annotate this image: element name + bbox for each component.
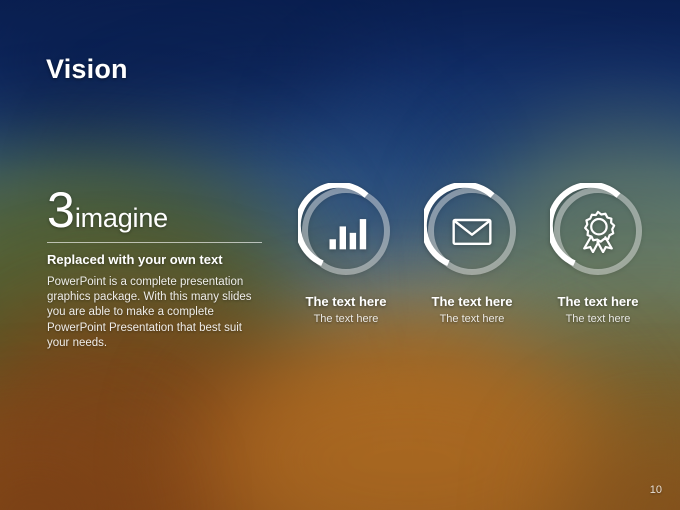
icon-column-2[interactable]: The text here The text here (409, 183, 535, 325)
column-title: The text here (432, 294, 513, 309)
presentation-slide: Vision 3imagine Replaced with your own t… (0, 0, 680, 510)
progress-ring-2 (424, 183, 520, 279)
column-title: The text here (558, 294, 639, 309)
column-subtitle: The text here (566, 313, 631, 325)
page-title: Vision (46, 54, 128, 85)
headline-word: imagine (75, 203, 168, 233)
column-title: The text here (306, 294, 387, 309)
divider-rule (47, 242, 262, 243)
column-subtitle: The text here (440, 313, 505, 325)
envelope-icon (424, 183, 520, 279)
award-ribbon-icon (550, 183, 646, 279)
left-text-block: 3imagine Replaced with your own text Pow… (47, 185, 265, 351)
progress-ring-3 (550, 183, 646, 279)
bar-chart-icon (298, 183, 394, 279)
body-paragraph: PowerPoint is a complete presentation gr… (47, 275, 261, 351)
icon-columns: The text here The text here The text her… (283, 183, 661, 325)
page-number: 10 (650, 484, 662, 496)
subheading: Replaced with your own text (47, 252, 265, 267)
progress-ring-1 (298, 183, 394, 279)
icon-column-1[interactable]: The text here The text here (283, 183, 409, 325)
column-subtitle: The text here (314, 313, 379, 325)
headline: 3imagine (47, 185, 265, 235)
headline-number: 3 (47, 182, 75, 238)
icon-column-3[interactable]: The text here The text here (535, 183, 661, 325)
